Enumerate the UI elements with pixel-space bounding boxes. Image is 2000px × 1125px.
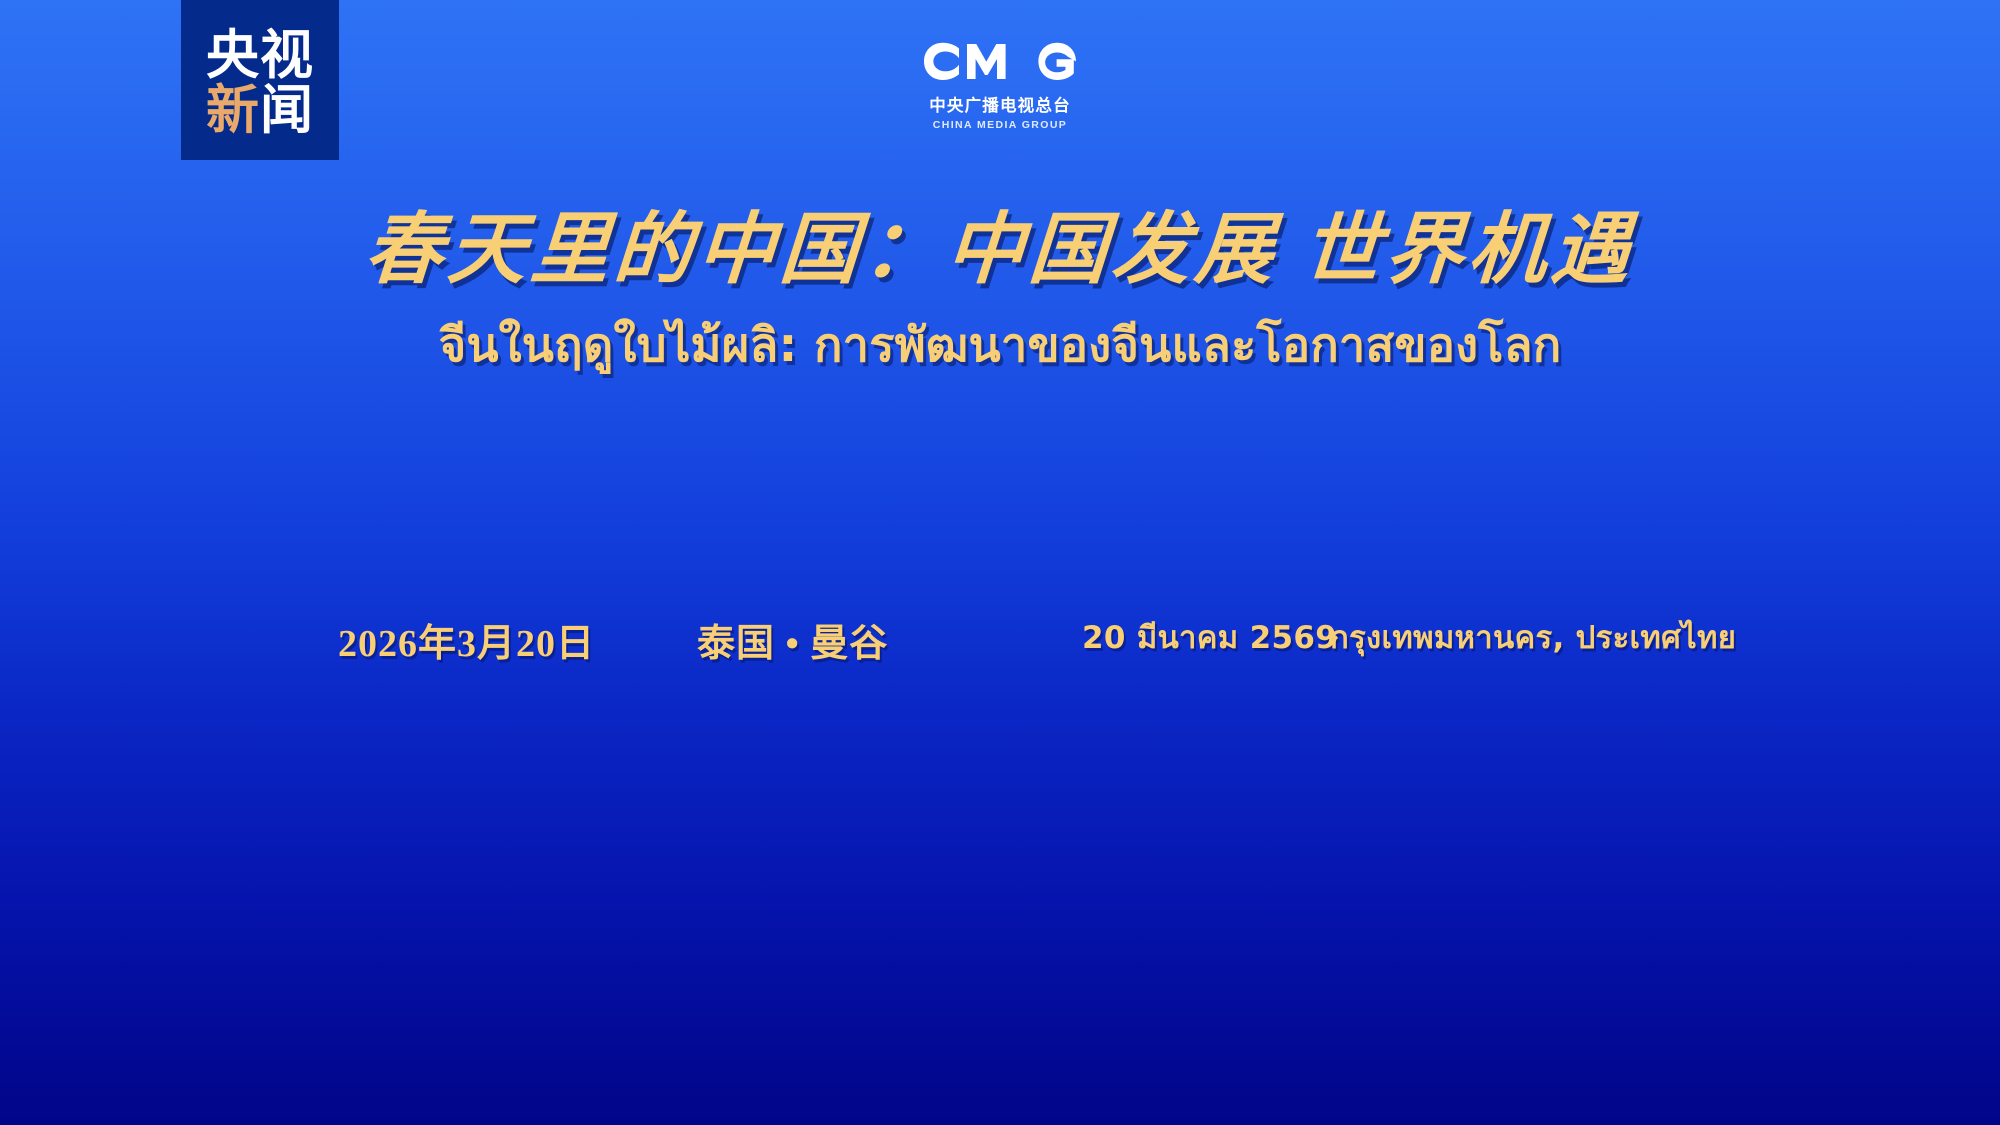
event-location-chinese: 泰国 • 曼谷 — [697, 612, 888, 667]
subtitle-thai: จีนในฤดูใบไม้ผลิ: การพัฒนาของจีนและโอกาส… — [0, 318, 2000, 373]
cctv-logo-rest-char: 闻 — [260, 81, 314, 140]
cmg-chinese-name: 中央广播电视总台 — [929, 92, 1071, 116]
main-title-chinese: 春天里的中国：中国发展 世界机遇 — [362, 208, 1637, 292]
title-zone: 春天里的中国：中国发展 世界机遇 จีนในฤดูใบไม้ผลิ: การพั… — [0, 208, 2000, 374]
cctv-logo-line-1: 央视 — [206, 28, 314, 83]
cctv-logo-line-2: 新闻 — [206, 83, 314, 138]
cctv-logo-accent-char: 新 — [206, 81, 260, 140]
cmg-wordmark-icon — [923, 36, 1077, 88]
event-location-thai: กรุงเทพมหานคร, ประเทศไทย — [1330, 612, 1736, 662]
broadcast-title-card: { "background": { "gradient_top": "#2e72… — [0, 0, 2000, 1125]
event-date-thai: 20 มีนาคม 2569 — [1082, 612, 1337, 662]
cmg-english-name: CHINA MEDIA GROUP — [933, 119, 1067, 131]
cctv-news-logo: 央视 新闻 — [181, 0, 339, 160]
event-date-chinese: 2026年3月20日 — [338, 612, 595, 667]
